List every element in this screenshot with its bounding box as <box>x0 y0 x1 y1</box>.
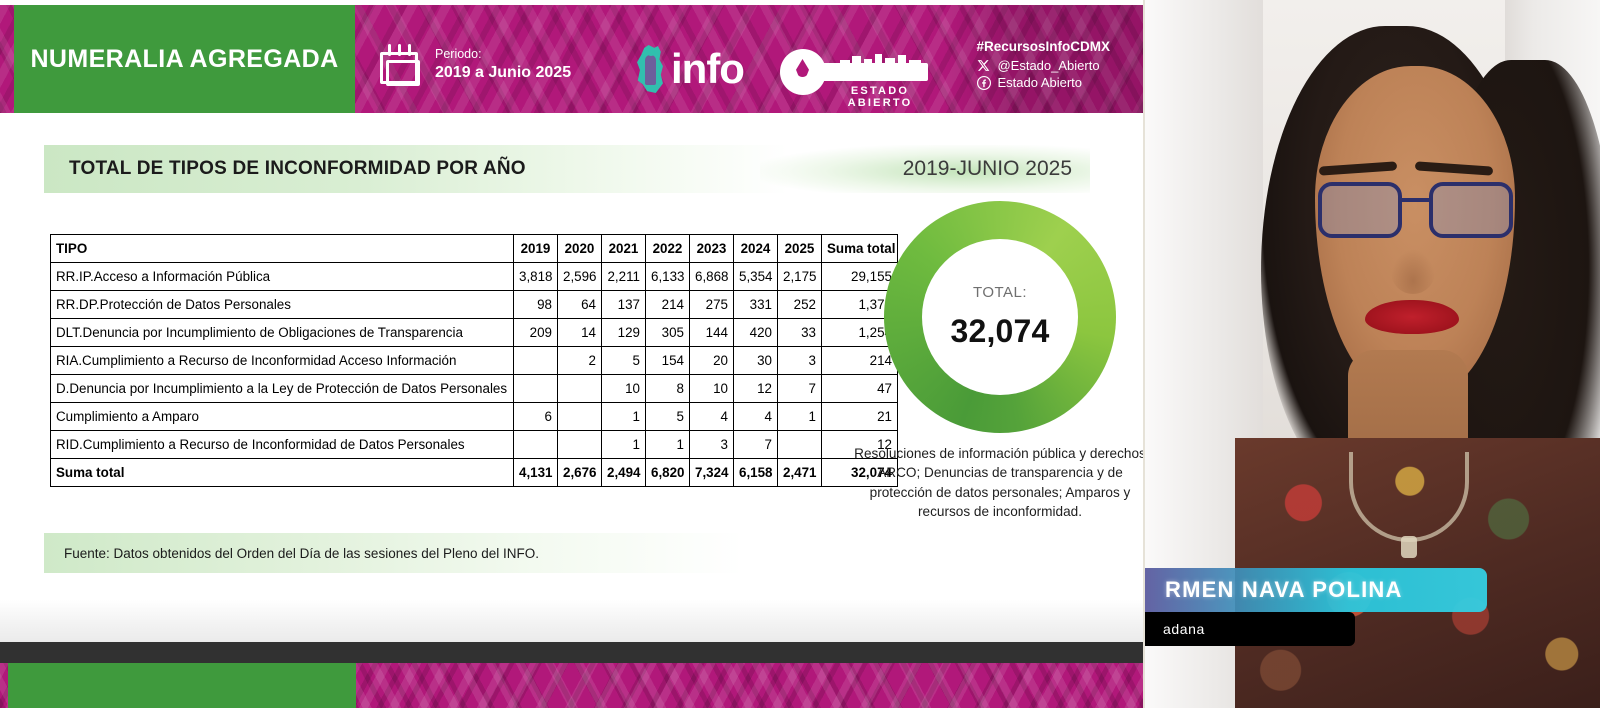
cell-2021: 129 <box>602 319 646 347</box>
row-label: D.Denuncia por Incumplimiento a la Ley d… <box>51 375 514 403</box>
lower-third-role: adana <box>1143 612 1355 646</box>
cell-2023: 6,868 <box>690 263 734 291</box>
row-label: RR.IP.Acceso a Información Pública <box>51 263 514 291</box>
cell-2023: 10 <box>690 375 734 403</box>
section-title-band: TOTAL DE TIPOS DE INCONFORMIDAD POR AÑO <box>44 145 788 193</box>
table-body: RR.IP.Acceso a Información Pública3,8182… <box>51 263 898 487</box>
cell-2022: 305 <box>646 319 690 347</box>
cell-2022: 1 <box>646 431 690 459</box>
speaker-role: adana <box>1163 621 1205 637</box>
col-2020: 2020 <box>558 235 602 263</box>
video-feed[interactable]: RMEN NAVA POLINA adana <box>1143 0 1600 708</box>
cell-2019: 6 <box>514 403 558 431</box>
x-twitter-icon <box>976 58 991 73</box>
cell-2024: 420 <box>734 319 778 347</box>
cell-2019 <box>514 431 558 459</box>
total-cell-2024: 6,158 <box>734 459 778 487</box>
cell-2024: 12 <box>734 375 778 403</box>
cell-2020: 2,596 <box>558 263 602 291</box>
table-row: Cumplimiento a Amparo61544121 <box>51 403 898 431</box>
cell-2025: 33 <box>778 319 822 347</box>
donut-caption: Resoluciones de información pública y de… <box>852 444 1143 521</box>
speaker-name: RMEN NAVA POLINA <box>1165 577 1403 603</box>
total-cell-2025: 2,471 <box>778 459 822 487</box>
lower-third-name: RMEN NAVA POLINA <box>1143 568 1487 612</box>
col-2023: 2023 <box>690 235 734 263</box>
calendar-icon <box>378 43 422 87</box>
row-label: Cumplimiento a Amparo <box>51 403 514 431</box>
inconformidad-table: TIPO 2019 2020 2021 2022 2023 2024 2025 … <box>50 234 898 487</box>
total-cell-2020: 2,676 <box>558 459 602 487</box>
cell-2024: 7 <box>734 431 778 459</box>
total-row-label: Suma total <box>51 459 514 487</box>
x-handle-text: @Estado_Abierto <box>997 58 1099 73</box>
cell-2023: 4 <box>690 403 734 431</box>
cell-2022: 154 <box>646 347 690 375</box>
facebook-handle-text: Estado Abierto <box>997 75 1082 90</box>
col-2022: 2022 <box>646 235 690 263</box>
cell-2025: 3 <box>778 347 822 375</box>
section-title: TOTAL DE TIPOS DE INCONFORMIDAD POR AÑO <box>69 158 526 180</box>
cell-2020: 64 <box>558 291 602 319</box>
footer-gradient <box>0 600 1143 642</box>
cell-2025: 252 <box>778 291 822 319</box>
total-donut-chart: TOTAL: 32,074 <box>884 201 1116 433</box>
cell-2021: 137 <box>602 291 646 319</box>
x-handle-row[interactable]: @Estado_Abierto <box>976 58 1110 73</box>
cell-2020: 2 <box>558 347 602 375</box>
cell-2025: 1 <box>778 403 822 431</box>
col-2025: 2025 <box>778 235 822 263</box>
col-tipo: TIPO <box>51 235 514 263</box>
cell-2024: 30 <box>734 347 778 375</box>
footer-dark-bar <box>0 642 1143 663</box>
total-cell-2019: 4,131 <box>514 459 558 487</box>
cell-2023: 144 <box>690 319 734 347</box>
period-range: 2019-JUNIO 2025 <box>903 157 1072 181</box>
cell-2019: 98 <box>514 291 558 319</box>
facebook-handle-row[interactable]: Estado Abierto <box>976 75 1110 90</box>
table-header-row: TIPO 2019 2020 2021 2022 2023 2024 2025 … <box>51 235 898 263</box>
cell-2024: 5,354 <box>734 263 778 291</box>
cell-2022: 6,133 <box>646 263 690 291</box>
footer-band <box>0 663 1143 708</box>
screen: NUMERALIA AGREGADA Periodo: 2019 a Junio… <box>0 0 1600 708</box>
cell-2020: 14 <box>558 319 602 347</box>
donut-label: TOTAL: <box>973 284 1027 301</box>
cell-2019 <box>514 375 558 403</box>
source-band: Fuente: Datos obtenidos del Orden del Dí… <box>44 533 744 573</box>
table-row: RR.DP.Protección de Datos Personales9864… <box>51 291 898 319</box>
table-row: RIA.Cumplimiento a Recurso de Inconformi… <box>51 347 898 375</box>
footer-green-block <box>8 663 356 708</box>
header-title: NUMERALIA AGREGADA <box>30 46 338 72</box>
cell-2021: 5 <box>602 347 646 375</box>
cell-2021: 1 <box>602 403 646 431</box>
row-label: RR.DP.Protección de Datos Personales <box>51 291 514 319</box>
period-label: Periodo: <box>435 47 571 63</box>
cell-2024: 331 <box>734 291 778 319</box>
cell-2021: 1 <box>602 431 646 459</box>
donut-center: TOTAL: 32,074 <box>922 239 1078 395</box>
row-label: RIA.Cumplimiento a Recurso de Inconformi… <box>51 347 514 375</box>
col-2021: 2021 <box>602 235 646 263</box>
speaker-pendant <box>1401 536 1417 558</box>
cell-2022: 5 <box>646 403 690 431</box>
table-row: RR.IP.Acceso a Información Pública3,8182… <box>51 263 898 291</box>
cell-2019 <box>514 347 558 375</box>
cell-2025: 7 <box>778 375 822 403</box>
social-block: #RecursosInfoCDMX @Estado_Abierto Estado… <box>976 39 1110 92</box>
cell-2019: 209 <box>514 319 558 347</box>
info-logo: info <box>632 45 744 93</box>
period-range-band: 2019-JUNIO 2025 <box>760 145 1090 193</box>
total-cell-2023: 7,324 <box>690 459 734 487</box>
slide-body: TOTAL DE TIPOS DE INCONFORMIDAD POR AÑO … <box>0 113 1143 600</box>
total-cell-2021: 2,494 <box>602 459 646 487</box>
total-cell-2022: 6,820 <box>646 459 690 487</box>
cell-2025 <box>778 431 822 459</box>
table-row: RID.Cumplimiento a Recurso de Inconformi… <box>51 431 898 459</box>
cell-2021: 10 <box>602 375 646 403</box>
cell-2023: 20 <box>690 347 734 375</box>
col-2019: 2019 <box>514 235 558 263</box>
speaker-glasses <box>1318 182 1513 244</box>
cell-2024: 4 <box>734 403 778 431</box>
cdmx-map-icon <box>632 45 668 93</box>
col-2024: 2024 <box>734 235 778 263</box>
cell-2023: 275 <box>690 291 734 319</box>
info-wordmark: info <box>671 49 744 89</box>
estado-abierto-logo: ESTADO ABIERTO <box>780 47 940 105</box>
cell-2022: 214 <box>646 291 690 319</box>
cell-2025: 2,175 <box>778 263 822 291</box>
table-total-row: Suma total4,1312,6762,4946,8207,3246,158… <box>51 459 898 487</box>
cell-2020 <box>558 431 602 459</box>
hashtag: #RecursosInfoCDMX <box>976 39 1110 54</box>
table-row: DLT.Denuncia por Incumplimiento de Oblig… <box>51 319 898 347</box>
facebook-icon <box>976 75 991 90</box>
estado-abierto-label: ESTADO ABIERTO <box>820 85 940 109</box>
cell-2021: 2,211 <box>602 263 646 291</box>
period-value: 2019 a Junio 2025 <box>435 63 571 83</box>
header-green-block: NUMERALIA AGREGADA <box>14 5 355 113</box>
cell-2020 <box>558 375 602 403</box>
cell-2022: 8 <box>646 375 690 403</box>
cell-2023: 3 <box>690 431 734 459</box>
cell-2019: 3,818 <box>514 263 558 291</box>
row-label: RID.Cumplimiento a Recurso de Inconformi… <box>51 431 514 459</box>
period-block: Periodo: 2019 a Junio 2025 <box>378 43 571 87</box>
donut-value: 32,074 <box>950 313 1049 350</box>
row-label: DLT.Denuncia por Incumplimiento de Oblig… <box>51 319 514 347</box>
table-row: D.Denuncia por Incumplimiento a la Ley d… <box>51 375 898 403</box>
speaker-lips <box>1365 300 1459 334</box>
source-text: Fuente: Datos obtenidos del Orden del Dí… <box>64 546 539 561</box>
speaker-nose <box>1391 250 1435 294</box>
skyline-icon <box>840 54 926 68</box>
cell-2020 <box>558 403 602 431</box>
presentation-slide: NUMERALIA AGREGADA Periodo: 2019 a Junio… <box>0 0 1143 708</box>
slide-header: NUMERALIA AGREGADA Periodo: 2019 a Junio… <box>0 5 1143 113</box>
